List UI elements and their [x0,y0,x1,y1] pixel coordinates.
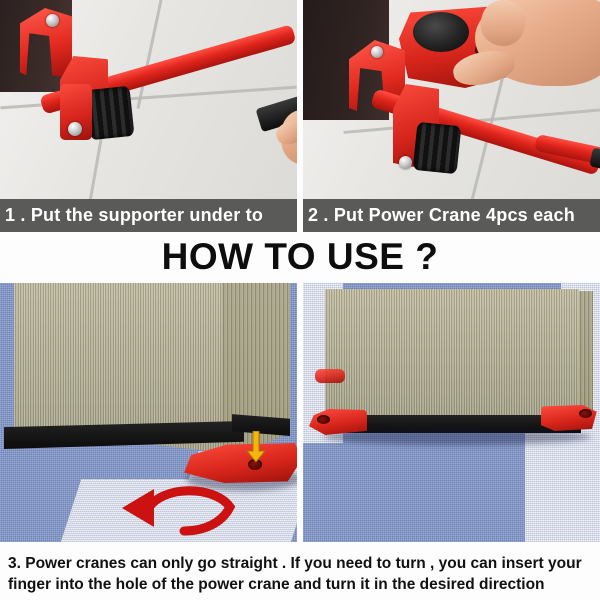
caption-text-1: 1 . Put the supporter under to [0,205,263,226]
crane-finger-hole-left [317,415,330,424]
cabinet-front-panel [325,289,579,417]
footer-line-1: 3. Power cranes can only go straight . I… [8,553,582,574]
crane-finger-hole-right [579,409,592,418]
hook-bolt [371,46,383,58]
roller-wheel [86,86,135,140]
caption-bar-1: 1 . Put the supporter under to [0,199,297,232]
turn-direction-arrow [118,479,248,539]
insert-finger-arrow [246,431,266,463]
caption-text-2: 2 . Put Power Crane 4pcs each [303,205,575,226]
power-crane-right [541,405,599,431]
crane-rubber-pad [413,12,469,52]
wheel-axle-bolt [399,156,412,169]
roller-wheel [413,122,462,174]
cabinet-shadow [323,429,591,445]
wheel-axle-bolt [68,122,82,136]
photo-panel-4 [303,283,600,542]
cabinet-side-panel [579,291,593,413]
power-crane-rear [315,369,345,383]
infographic-sheet: 1 . Put the supporter under to 2 . Put P… [0,0,600,600]
photo-panel-3 [0,283,297,542]
caption-bar-2: 2 . Put Power Crane 4pcs each [303,199,600,232]
photo-panel-2 [303,0,600,199]
photo-panel-1 [0,0,297,199]
hook-bolt [46,14,59,27]
page-title: HOW TO USE ? [0,236,600,278]
footer-line-2: finger into the hole of the power crane … [8,574,545,595]
